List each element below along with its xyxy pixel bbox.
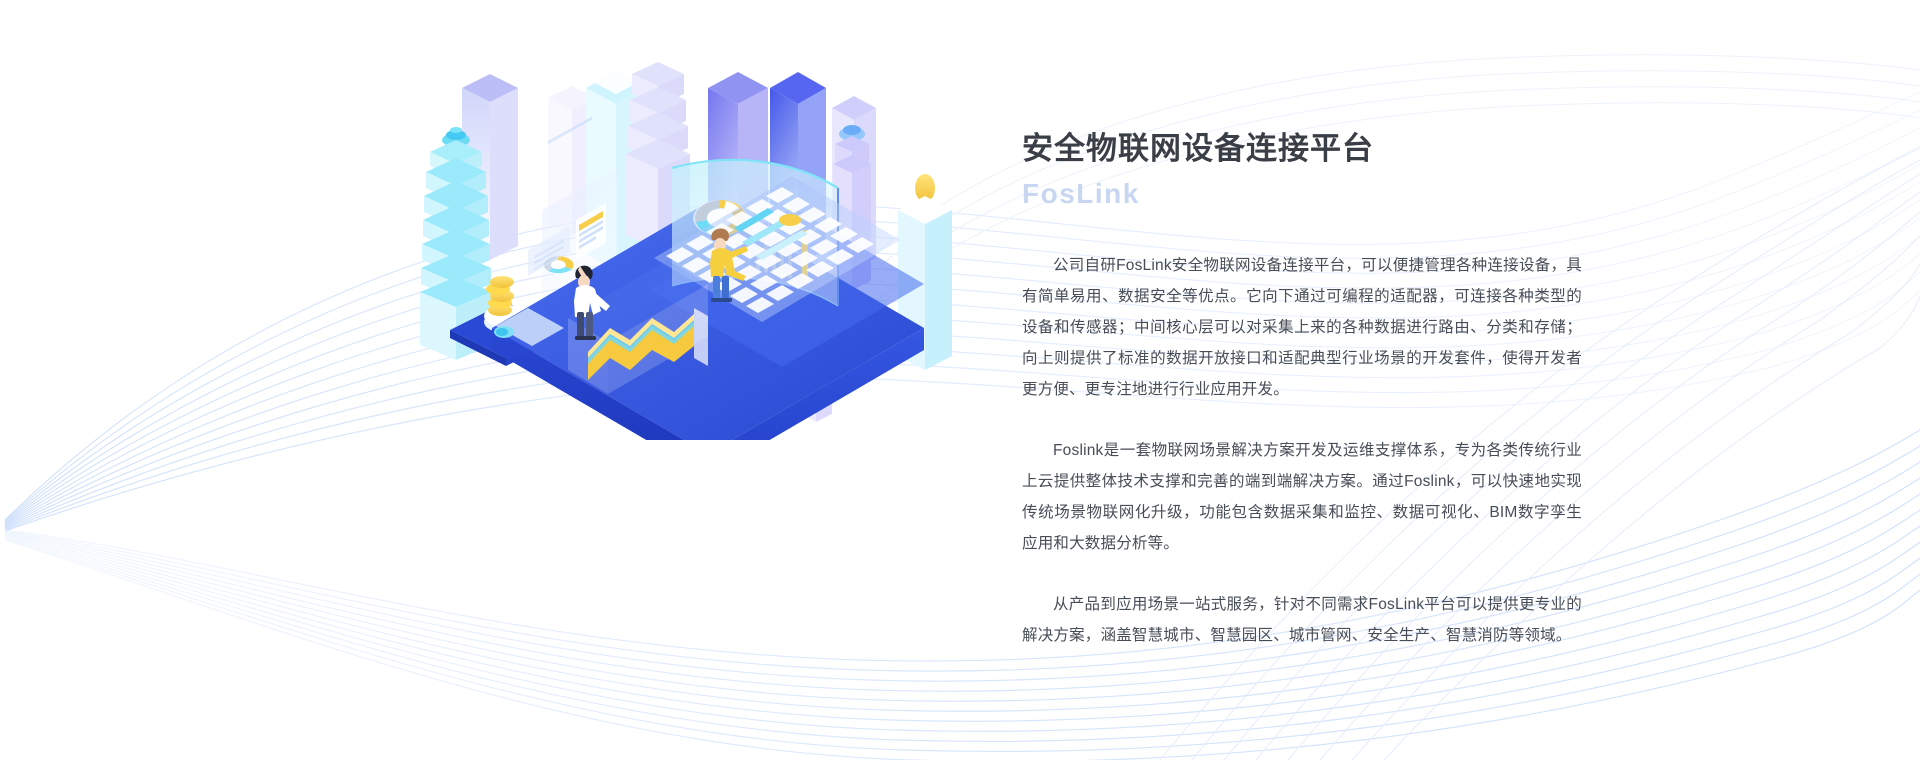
iot-platform-illustration — [420, 60, 980, 440]
page-title: 安全物联网设备连接平台 — [1022, 130, 1582, 169]
paragraph-3: 从产品到应用场景一站式服务，针对不同需求FosLink平台可以提供更专业的解决方… — [1022, 589, 1582, 651]
page-subtitle: FosLink — [1022, 177, 1582, 211]
content-column: 安全物联网设备连接平台 FosLink 公司自研FosLink安全物联网设备连接… — [1022, 130, 1582, 651]
paragraph-1: 公司自研FosLink安全物联网设备连接平台，可以便捷管理各种连接设备，具有简单… — [1022, 250, 1582, 405]
landing-page: 安全物联网设备连接平台 FosLink 公司自研FosLink安全物联网设备连接… — [0, 0, 1920, 760]
paragraph-2: Foslink是一套物联网场景解决方案开发及运维支撑体系，专为各类传统行业上云提… — [1022, 435, 1582, 559]
